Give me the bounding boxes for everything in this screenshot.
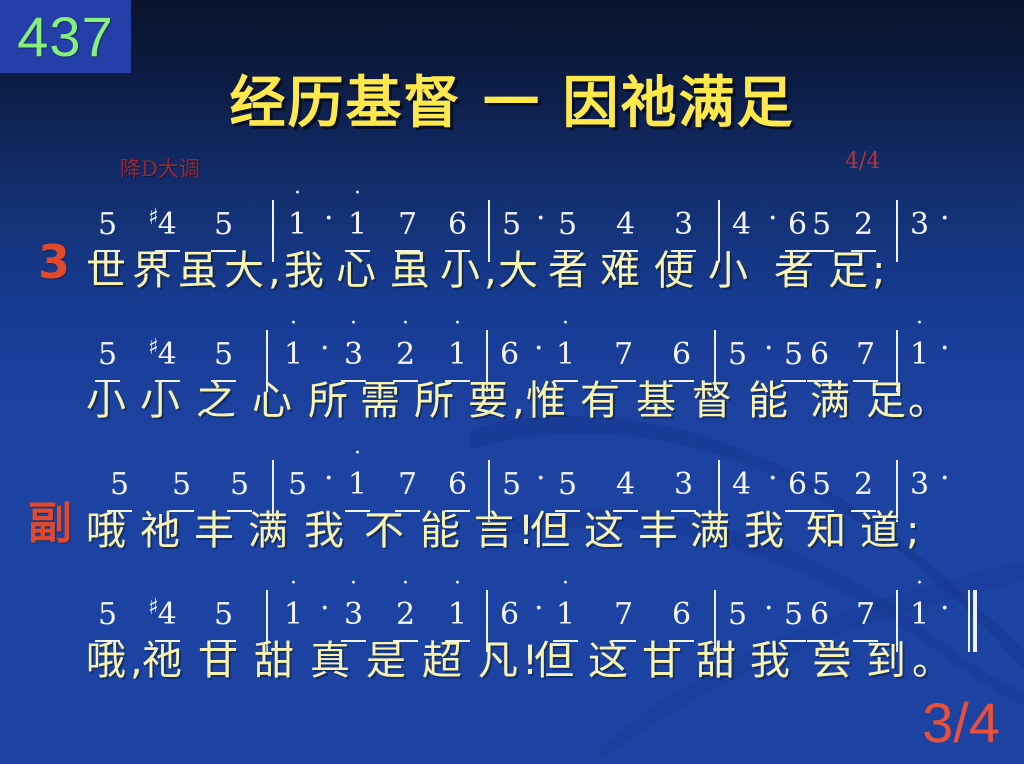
note-digit: 5 bbox=[214, 338, 233, 372]
note-digit: 5 bbox=[558, 208, 577, 242]
lyric-char: 我 bbox=[284, 242, 324, 300]
lyric-char: 我 bbox=[304, 502, 344, 560]
lyric-char: 虽 bbox=[390, 242, 430, 300]
augmentation-dot: · bbox=[534, 592, 544, 626]
octave-dot: · bbox=[396, 319, 415, 329]
octave-dot: · bbox=[910, 319, 929, 329]
octave-dot: · bbox=[344, 579, 363, 589]
page-title: 经历基督 一 因祂满足 bbox=[0, 74, 1024, 134]
note-digit: 5 bbox=[728, 598, 747, 632]
note-digit: 2 bbox=[396, 338, 415, 372]
note-digit: 6 bbox=[500, 338, 519, 372]
note-digit: 5 bbox=[230, 468, 249, 502]
lyrics-row: 世界虽大,我心虽小,大者难使小者足; bbox=[0, 242, 1024, 304]
note-digit: 2 bbox=[396, 598, 415, 632]
lyric-char: 这 bbox=[584, 502, 624, 560]
lyric-char: 难 bbox=[600, 242, 640, 300]
augmentation-dot: · bbox=[320, 332, 330, 366]
hymn-slide: 437 经历基督 一 因祂满足 降D大调 4/4 3 副 5♯451··1·76… bbox=[0, 0, 1024, 764]
note-digit: 2 bbox=[854, 468, 873, 502]
lyric-char: 哦 bbox=[86, 502, 126, 560]
note-digit: 5 bbox=[812, 208, 831, 242]
lyric-char: 者 bbox=[548, 242, 588, 300]
note-digit: 3 bbox=[674, 468, 693, 502]
lyric-char: 到 bbox=[866, 632, 906, 690]
key-signature-label: 降D大调 bbox=[120, 157, 200, 181]
lyric-char: 有 bbox=[580, 372, 620, 430]
note-digit: 5 bbox=[214, 598, 233, 632]
note-digit: 7 bbox=[856, 338, 875, 372]
lyric-char: 满 bbox=[248, 502, 288, 560]
lyric-char: , bbox=[512, 372, 525, 430]
lyric-char: 满 bbox=[690, 502, 730, 560]
augmentation-dot: · bbox=[764, 332, 774, 366]
lyric-char: 祂 bbox=[142, 632, 182, 690]
augmentation-dot: · bbox=[940, 202, 950, 236]
note-digit: 4 bbox=[616, 468, 635, 502]
note-digit: 5 bbox=[558, 468, 577, 502]
lyric-char: , bbox=[268, 242, 281, 300]
note-digit: 6 bbox=[448, 208, 467, 242]
augmentation-dot: · bbox=[940, 332, 950, 366]
lyric-char: 小 bbox=[440, 242, 480, 300]
note-digit: 4 bbox=[732, 468, 751, 502]
lyric-char: 丰 bbox=[194, 502, 234, 560]
lyric-char: 要 bbox=[468, 372, 508, 430]
note-digit: 6 bbox=[810, 598, 829, 632]
note-digit: 6 bbox=[672, 338, 691, 372]
lyric-char: 尝 bbox=[812, 632, 852, 690]
note-digit: 1 bbox=[284, 338, 303, 372]
lyric-char: 我 bbox=[750, 632, 790, 690]
note-digit: 1 bbox=[284, 598, 303, 632]
note-digit: 3 bbox=[910, 208, 929, 242]
note-digit: 5 bbox=[98, 208, 117, 242]
note-digit: 6 bbox=[672, 598, 691, 632]
lyric-char: 甜 bbox=[254, 632, 294, 690]
lyric-char: 满 bbox=[810, 372, 850, 430]
lyric-char: 真 bbox=[310, 632, 350, 690]
octave-dot: · bbox=[288, 189, 307, 199]
lyric-char: 能 bbox=[420, 502, 460, 560]
augmentation-dot: · bbox=[536, 462, 546, 496]
lyric-char: 不 bbox=[364, 502, 404, 560]
note-digit: 5 bbox=[214, 208, 233, 242]
note-digit: 6 bbox=[788, 208, 807, 242]
lyric-char: 但 bbox=[530, 502, 570, 560]
staff-line-4: 5♯451··3·2·1·6·1·765·5671·· 哦,祂甘真甜是超凡!但这… bbox=[0, 586, 1024, 694]
octave-dot: · bbox=[910, 579, 929, 589]
note-digit: 4 bbox=[158, 208, 177, 242]
note-digit: 7 bbox=[398, 208, 417, 242]
octave-dot: · bbox=[556, 579, 575, 589]
staff-line-1: 5♯451··1·765·5434·6523· 世界虽大,我心虽小,大者难使小者… bbox=[0, 196, 1024, 304]
page-indicator: 3/4 bbox=[922, 694, 1000, 752]
augmentation-dot: · bbox=[768, 202, 778, 236]
note-digit: 7 bbox=[614, 338, 633, 372]
note-digit: 1 bbox=[910, 338, 929, 372]
note-digit: 5 bbox=[110, 468, 129, 502]
augmentation-dot: · bbox=[940, 462, 950, 496]
note-digit: 1 bbox=[556, 338, 575, 372]
lyric-char: 能 bbox=[748, 372, 788, 430]
lyric-char: 甘 bbox=[198, 632, 238, 690]
hymn-number-badge: 437 bbox=[0, 0, 131, 73]
augmentation-dot: · bbox=[324, 462, 334, 496]
lyric-char: 我 bbox=[744, 502, 784, 560]
note-digit: 6 bbox=[500, 598, 519, 632]
lyric-char: 道 bbox=[860, 502, 900, 560]
note-digit: 6 bbox=[810, 338, 829, 372]
octave-dot: · bbox=[348, 189, 367, 199]
lyric-char: 。 bbox=[912, 632, 952, 690]
lyric-char: 知 bbox=[806, 502, 846, 560]
lyric-char: 基 bbox=[636, 372, 676, 430]
note-digit: 6 bbox=[448, 468, 467, 502]
lyrics-row: 哦祂丰满我不能言!但这丰满我知道; bbox=[0, 502, 1024, 564]
note-digit: 7 bbox=[856, 598, 875, 632]
lyrics-row: 小小之心所需所要,惟有基督能满足。 bbox=[0, 372, 1024, 434]
note-digit: 5 bbox=[98, 338, 117, 372]
time-signature-label: 4/4 bbox=[845, 150, 880, 174]
note-digit: 4 bbox=[158, 598, 177, 632]
augmentation-dot: · bbox=[764, 592, 774, 626]
notation-row: 5555·1·765·5434·6523· bbox=[0, 456, 1024, 502]
lyric-char: 言 bbox=[474, 502, 514, 560]
note-digit: 5 bbox=[288, 468, 307, 502]
lyric-char: 惟 bbox=[526, 372, 566, 430]
octave-dot: · bbox=[284, 319, 303, 329]
augmentation-dot: · bbox=[768, 462, 778, 496]
lyric-char: , bbox=[484, 242, 497, 300]
note-digit: 5 bbox=[728, 338, 747, 372]
lyric-char: 丰 bbox=[638, 502, 678, 560]
note-digit: 4 bbox=[732, 208, 751, 242]
octave-dot: · bbox=[284, 579, 303, 589]
note-digit: 1 bbox=[348, 208, 367, 242]
lyric-char: 甜 bbox=[696, 632, 736, 690]
lyric-char: 足 bbox=[828, 242, 868, 300]
lyric-char: 所 bbox=[414, 372, 454, 430]
lyric-char: 足 bbox=[866, 372, 906, 430]
lyric-char: 所 bbox=[308, 372, 348, 430]
note-digit: 1 bbox=[288, 208, 307, 242]
lyric-char: 是 bbox=[366, 632, 406, 690]
note-digit: 1 bbox=[448, 338, 467, 372]
note-digit: 5 bbox=[812, 468, 831, 502]
augmentation-dot: · bbox=[320, 592, 330, 626]
augmentation-dot: · bbox=[940, 592, 950, 626]
octave-dot: · bbox=[556, 319, 575, 329]
note-digit: 1 bbox=[348, 468, 367, 502]
note-digit: 5 bbox=[502, 468, 521, 502]
lyric-char: 甘 bbox=[642, 632, 682, 690]
note-digit: 7 bbox=[398, 468, 417, 502]
staff-line-2: 5♯451··3·2·1·6·1·765·5671·· 小小之心所需所要,惟有基… bbox=[0, 326, 1024, 434]
hymn-number: 437 bbox=[17, 9, 113, 65]
note-digit: 1 bbox=[448, 598, 467, 632]
lyric-char: , bbox=[130, 632, 143, 690]
staff-line-3: 5555·1·765·5434·6523· 哦祂丰满我不能言!但这丰满我知道; bbox=[0, 456, 1024, 564]
lyrics-row: 哦,祂甘真甜是超凡!但这甘甜我尝到。 bbox=[0, 632, 1024, 694]
octave-dot: · bbox=[396, 579, 415, 589]
lyric-char: ; bbox=[872, 242, 885, 300]
note-digit: 5 bbox=[98, 598, 117, 632]
lyric-char: 之 bbox=[196, 372, 236, 430]
note-digit: 3 bbox=[344, 338, 363, 372]
note-digit: 3 bbox=[910, 468, 929, 502]
lyric-char: 虽 bbox=[178, 242, 218, 300]
note-digit: 5 bbox=[784, 338, 803, 372]
note-digit: 7 bbox=[614, 598, 633, 632]
lyric-char: 祂 bbox=[140, 502, 180, 560]
lyric-char: 需 bbox=[360, 372, 400, 430]
lyric-char: 哦 bbox=[86, 632, 126, 690]
note-digit: 1 bbox=[910, 598, 929, 632]
lyric-char: 世 bbox=[86, 242, 126, 300]
note-digit: 5 bbox=[172, 468, 191, 502]
lyric-char: 者 bbox=[774, 242, 814, 300]
note-digit: 4 bbox=[158, 338, 177, 372]
note-digit: 1 bbox=[556, 598, 575, 632]
octave-dot: · bbox=[448, 319, 467, 329]
lyric-char: 大 bbox=[224, 242, 264, 300]
note-digit: 3 bbox=[344, 598, 363, 632]
note-digit: 5 bbox=[784, 598, 803, 632]
augmentation-dot: · bbox=[536, 202, 546, 236]
lyric-char: 凡 bbox=[478, 632, 518, 690]
lyric-char: 小 bbox=[86, 372, 126, 430]
octave-dot: · bbox=[448, 579, 467, 589]
lyric-char: ; bbox=[906, 502, 919, 560]
lyric-char: 但 bbox=[534, 632, 574, 690]
lyric-char: 小 bbox=[708, 242, 748, 300]
note-digit: 2 bbox=[854, 208, 873, 242]
lyric-char: 这 bbox=[588, 632, 628, 690]
note-digit: 3 bbox=[674, 208, 693, 242]
octave-dot: · bbox=[348, 449, 367, 459]
notation-row: 5♯451··3·2·1·6·1·765·5671·· bbox=[0, 326, 1024, 372]
lyric-char: 使 bbox=[654, 242, 694, 300]
note-digit: 4 bbox=[616, 208, 635, 242]
notation-row: 5♯451··1·765·5434·6523· bbox=[0, 196, 1024, 242]
octave-dot: · bbox=[344, 319, 363, 329]
augmentation-dot: · bbox=[324, 202, 334, 236]
lyric-char: 小 bbox=[140, 372, 180, 430]
notation-row: 5♯451··3·2·1·6·1·765·5671·· bbox=[0, 586, 1024, 632]
lyric-char: 。 bbox=[908, 372, 948, 430]
lyric-char: 大 bbox=[498, 242, 538, 300]
note-digit: 5 bbox=[502, 208, 521, 242]
note-digit: 6 bbox=[788, 468, 807, 502]
lyric-char: 心 bbox=[336, 242, 376, 300]
lyric-char: 界 bbox=[132, 242, 172, 300]
lyric-char: 心 bbox=[252, 372, 292, 430]
lyric-char: 超 bbox=[422, 632, 462, 690]
lyric-char: 督 bbox=[692, 372, 732, 430]
augmentation-dot: · bbox=[534, 332, 544, 366]
